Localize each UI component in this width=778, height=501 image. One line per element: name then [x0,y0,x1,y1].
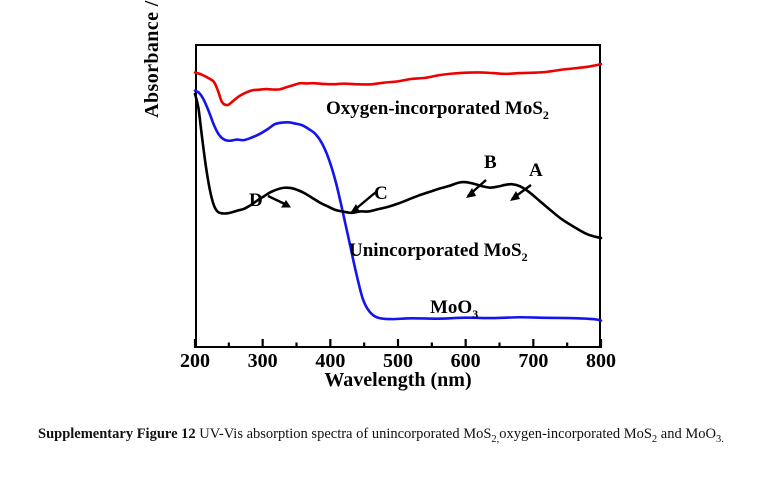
series-label-unincorporated-mos2: Unincorporated MoS2 [349,240,528,265]
caption-line2b: and MoO [657,426,716,442]
x-axis-ticks [195,339,601,348]
peak-label-b: B [484,152,497,174]
x-axis-label: Wavelength (nm) [195,369,601,392]
peak-label-a: A [529,160,543,182]
caption-line1: UV-Vis absorption spectra of unincorpora… [196,426,492,442]
peak-label-d: D [249,190,263,212]
peak-arrows [268,180,531,214]
spectra-svg [0,0,778,405]
series-label-moo3: MoO3 [430,297,478,322]
series-label-oxygen-incorporated-mos2: Oxygen-incorporated MoS2 [326,98,549,123]
caption-line2: oxygen-incorporated MoS [499,426,652,442]
arrow-a-head [510,191,520,201]
figure-caption: Supplementary Figure 12 UV-Vis absorptio… [38,418,738,456]
peak-label-c: C [374,183,388,205]
figure-container: Absorbance / a.u. 200300400500600700800 … [0,0,778,405]
caption-bold-prefix: Supplementary Figure 12 [38,426,196,442]
caption-sub-3: 3. [716,434,724,445]
